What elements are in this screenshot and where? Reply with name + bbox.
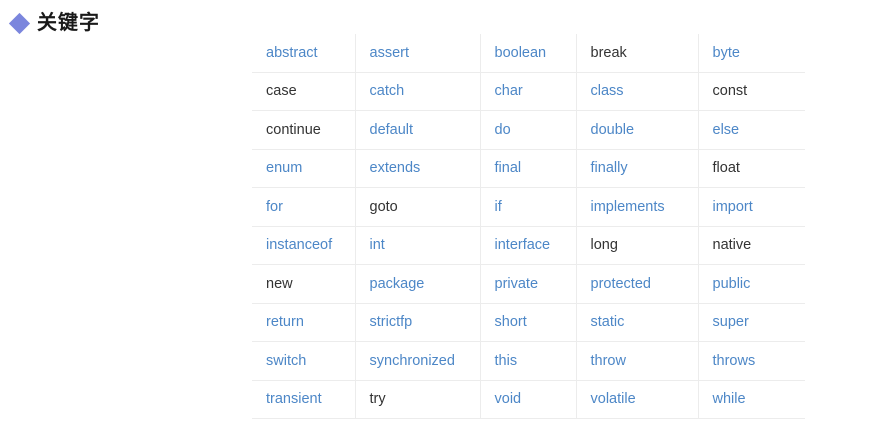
keyword-cell: native bbox=[698, 226, 805, 265]
keyword-cell[interactable]: while bbox=[698, 380, 805, 419]
keyword-link[interactable]: for bbox=[266, 199, 283, 215]
keyword-cell[interactable]: synchronized bbox=[355, 342, 480, 381]
keyword-table-container: abstractassertbooleanbreakbytecasecatchc… bbox=[252, 34, 805, 419]
keyword-cell[interactable]: throws bbox=[698, 342, 805, 381]
keyword-link[interactable]: instanceof bbox=[266, 237, 332, 253]
keyword-cell[interactable]: interface bbox=[480, 226, 576, 265]
keyword-cell[interactable]: return bbox=[252, 303, 355, 342]
keyword-cell[interactable]: implements bbox=[576, 188, 698, 227]
keyword-cell[interactable]: protected bbox=[576, 265, 698, 304]
keyword-link[interactable]: final bbox=[495, 160, 522, 176]
keyword-cell: try bbox=[355, 380, 480, 419]
keyword-cell[interactable]: catch bbox=[355, 72, 480, 111]
keyword-link[interactable]: while bbox=[713, 391, 746, 407]
keyword-link[interactable]: static bbox=[591, 314, 625, 330]
keyword-text: native bbox=[713, 237, 752, 253]
keyword-link[interactable]: short bbox=[495, 314, 527, 330]
page-heading: 关键字 bbox=[12, 13, 100, 33]
keyword-link[interactable]: void bbox=[495, 391, 522, 407]
keyword-text: float bbox=[713, 160, 740, 176]
keyword-cell[interactable]: if bbox=[480, 188, 576, 227]
keyword-cell[interactable]: package bbox=[355, 265, 480, 304]
keyword-cell: long bbox=[576, 226, 698, 265]
keyword-link[interactable]: boolean bbox=[495, 45, 547, 61]
keyword-text: case bbox=[266, 83, 297, 99]
keyword-cell[interactable]: default bbox=[355, 111, 480, 150]
keyword-cell[interactable]: instanceof bbox=[252, 226, 355, 265]
table-row: enumextendsfinalfinallyfloat bbox=[252, 149, 805, 188]
keyword-link[interactable]: synchronized bbox=[370, 353, 455, 369]
keyword-cell[interactable]: public bbox=[698, 265, 805, 304]
keyword-link[interactable]: abstract bbox=[266, 45, 318, 61]
keyword-cell: goto bbox=[355, 188, 480, 227]
keyword-cell[interactable]: boolean bbox=[480, 34, 576, 72]
keyword-cell[interactable]: abstract bbox=[252, 34, 355, 72]
keyword-cell[interactable]: extends bbox=[355, 149, 480, 188]
keyword-cell[interactable]: void bbox=[480, 380, 576, 419]
keyword-cell[interactable]: final bbox=[480, 149, 576, 188]
keyword-text: new bbox=[266, 276, 293, 292]
keyword-cell[interactable]: enum bbox=[252, 149, 355, 188]
keyword-cell[interactable]: double bbox=[576, 111, 698, 150]
table-row: forgotoifimplementsimport bbox=[252, 188, 805, 227]
page-title: 关键字 bbox=[37, 13, 100, 33]
keyword-link[interactable]: protected bbox=[591, 276, 651, 292]
keyword-link[interactable]: default bbox=[370, 122, 414, 138]
keyword-link[interactable]: return bbox=[266, 314, 304, 330]
keyword-cell[interactable]: this bbox=[480, 342, 576, 381]
keyword-link[interactable]: if bbox=[495, 199, 502, 215]
keyword-text: goto bbox=[370, 199, 398, 215]
keyword-link[interactable]: transient bbox=[266, 391, 322, 407]
keyword-link[interactable]: private bbox=[495, 276, 539, 292]
keyword-table: abstractassertbooleanbreakbytecasecatchc… bbox=[252, 34, 805, 419]
table-row: abstractassertbooleanbreakbyte bbox=[252, 34, 805, 72]
keyword-link[interactable]: throws bbox=[713, 353, 756, 369]
keyword-link[interactable]: super bbox=[713, 314, 749, 330]
keyword-link[interactable]: catch bbox=[370, 83, 405, 99]
keyword-link[interactable]: assert bbox=[370, 45, 410, 61]
keyword-link[interactable]: class bbox=[591, 83, 624, 99]
keyword-link[interactable]: else bbox=[713, 122, 740, 138]
keyword-cell[interactable]: static bbox=[576, 303, 698, 342]
keyword-link[interactable]: import bbox=[713, 199, 753, 215]
keyword-cell[interactable]: super bbox=[698, 303, 805, 342]
keyword-cell: const bbox=[698, 72, 805, 111]
keyword-cell[interactable]: char bbox=[480, 72, 576, 111]
keyword-cell[interactable]: throw bbox=[576, 342, 698, 381]
keyword-link[interactable]: char bbox=[495, 83, 523, 99]
table-row: transienttryvoidvolatilewhile bbox=[252, 380, 805, 419]
keyword-cell[interactable]: volatile bbox=[576, 380, 698, 419]
table-row: switchsynchronizedthisthrowthrows bbox=[252, 342, 805, 381]
table-row: returnstrictfpshortstaticsuper bbox=[252, 303, 805, 342]
keyword-link[interactable]: extends bbox=[370, 160, 421, 176]
keyword-link[interactable]: finally bbox=[591, 160, 628, 176]
keyword-cell: break bbox=[576, 34, 698, 72]
keyword-link[interactable]: public bbox=[713, 276, 751, 292]
keyword-cell[interactable]: else bbox=[698, 111, 805, 150]
keyword-cell: case bbox=[252, 72, 355, 111]
keyword-link[interactable]: throw bbox=[591, 353, 626, 369]
keyword-link[interactable]: byte bbox=[713, 45, 740, 61]
keyword-cell[interactable]: assert bbox=[355, 34, 480, 72]
keyword-cell[interactable]: finally bbox=[576, 149, 698, 188]
keyword-text: try bbox=[370, 391, 386, 407]
keyword-link[interactable]: package bbox=[370, 276, 425, 292]
keyword-cell[interactable]: transient bbox=[252, 380, 355, 419]
table-row: casecatchcharclassconst bbox=[252, 72, 805, 111]
keyword-text: break bbox=[591, 45, 627, 61]
keyword-link[interactable]: volatile bbox=[591, 391, 636, 407]
keyword-link[interactable]: enum bbox=[266, 160, 302, 176]
keyword-cell: new bbox=[252, 265, 355, 304]
keyword-text: const bbox=[713, 83, 748, 99]
keyword-cell[interactable]: class bbox=[576, 72, 698, 111]
keyword-text: continue bbox=[266, 122, 321, 138]
keyword-cell[interactable]: short bbox=[480, 303, 576, 342]
keyword-link[interactable]: switch bbox=[266, 353, 306, 369]
keyword-cell[interactable]: int bbox=[355, 226, 480, 265]
keyword-link[interactable]: implements bbox=[591, 199, 665, 215]
table-row: newpackageprivateprotectedpublic bbox=[252, 265, 805, 304]
keyword-cell[interactable]: byte bbox=[698, 34, 805, 72]
keyword-link[interactable]: this bbox=[495, 353, 518, 369]
keyword-cell[interactable]: strictfp bbox=[355, 303, 480, 342]
keyword-cell: continue bbox=[252, 111, 355, 150]
table-row: instanceofintinterfacelongnative bbox=[252, 226, 805, 265]
keyword-cell: float bbox=[698, 149, 805, 188]
keyword-link[interactable]: double bbox=[591, 122, 635, 138]
keyword-link[interactable]: int bbox=[370, 237, 385, 253]
keyword-cell[interactable]: for bbox=[252, 188, 355, 227]
keyword-link[interactable]: interface bbox=[495, 237, 551, 253]
keyword-cell[interactable]: do bbox=[480, 111, 576, 150]
keyword-cell[interactable]: switch bbox=[252, 342, 355, 381]
keyword-link[interactable]: strictfp bbox=[370, 314, 413, 330]
keyword-link[interactable]: do bbox=[495, 122, 511, 138]
table-row: continuedefaultdodoubleelse bbox=[252, 111, 805, 150]
keyword-cell[interactable]: private bbox=[480, 265, 576, 304]
diamond-bullet-icon bbox=[9, 12, 30, 33]
keyword-text: long bbox=[591, 237, 618, 253]
keyword-cell[interactable]: import bbox=[698, 188, 805, 227]
